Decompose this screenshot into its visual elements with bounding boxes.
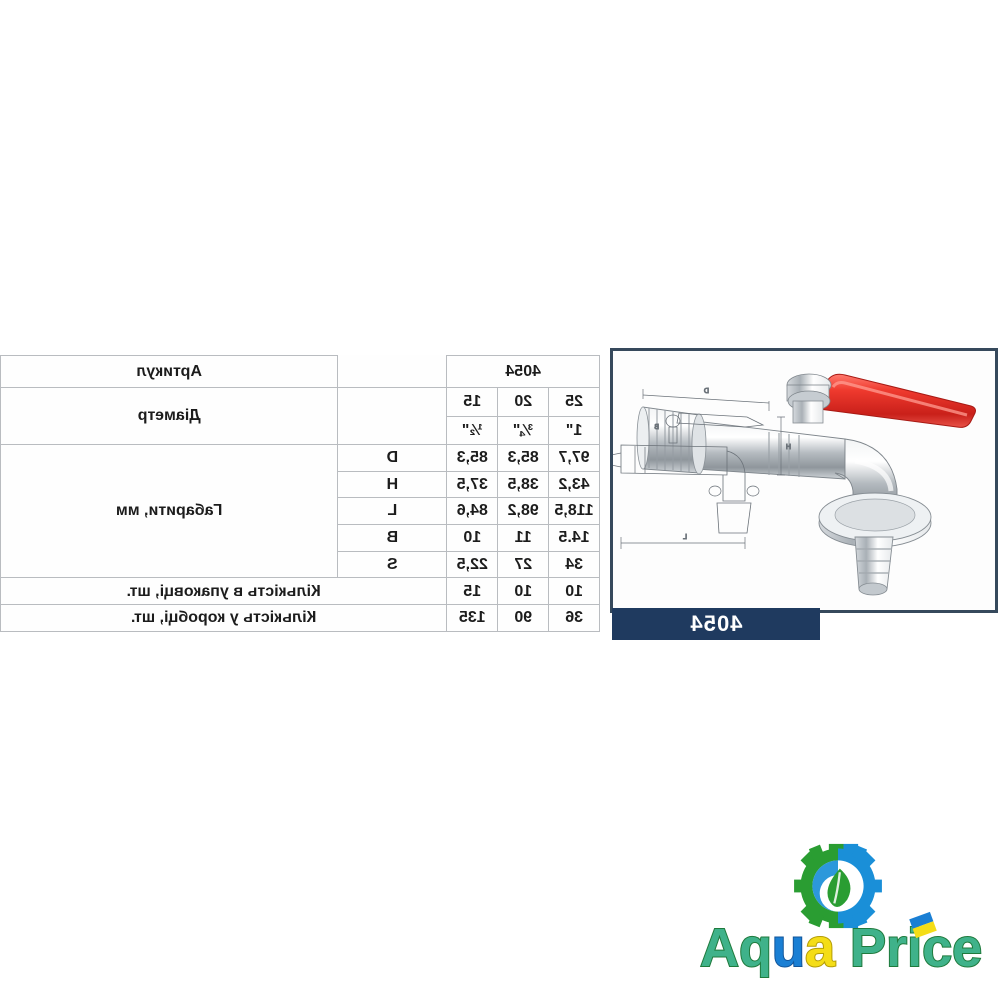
value-box-15: 135 xyxy=(447,605,498,632)
spacer-cell-diameter xyxy=(338,388,447,445)
inch-cell-1: 1" xyxy=(549,416,600,444)
spec-table-container: 4054 Артикул 25 20 15 Діаметр 1" ¾" ½" xyxy=(0,355,600,632)
letter-cell-L: L xyxy=(338,498,447,525)
tech-label-L: L xyxy=(683,534,687,541)
value-B-25: 14.5 xyxy=(549,524,600,551)
logo-text-aqu: Aq xyxy=(700,918,772,978)
value-S-25: 34 xyxy=(549,551,600,578)
value-box-25: 36 xyxy=(549,605,600,632)
spacer-cell-article xyxy=(338,356,447,388)
value-L-25: 118,5 xyxy=(549,498,600,525)
value-H-15: 37,5 xyxy=(447,471,498,498)
value-D-20: 85,3 xyxy=(498,444,549,471)
value-H-25: 43,2 xyxy=(549,471,600,498)
inch-cell-three-quarter: ¾" xyxy=(498,416,549,444)
value-H-20: 38,5 xyxy=(498,471,549,498)
tech-label-B: B xyxy=(654,424,659,431)
pack-qty-label-cell: Кількість в упаковці, шт. xyxy=(1,578,447,605)
logo-text-a: a xyxy=(805,918,835,978)
dimensions-label-cell: Габарити, мм xyxy=(1,444,338,578)
letter-cell-S: S xyxy=(338,551,447,578)
letter-cell-D: D xyxy=(338,444,447,471)
spec-table: 4054 Артикул 25 20 15 Діаметр 1" ¾" ½" xyxy=(0,355,600,632)
table-row-pack-qty: 10 10 15 Кількість в упаковці, шт. xyxy=(1,578,600,605)
value-L-15: 84,6 xyxy=(447,498,498,525)
article-banner: 4054 xyxy=(612,608,820,640)
value-pack-25: 10 xyxy=(549,578,600,605)
ball-valve-illustration: D H B xyxy=(610,351,995,610)
letter-cell-B: B xyxy=(338,524,447,551)
tech-label-D: D xyxy=(704,388,709,395)
logo-text-pr: Pr xyxy=(850,918,907,978)
article-label-cell: Артикул xyxy=(1,356,338,388)
box-qty-label-cell: Кількість у коробці, шт. xyxy=(1,605,447,632)
value-D-25: 97,7 xyxy=(549,444,600,471)
article-value-cell: 4054 xyxy=(447,356,600,388)
dn-cell-20: 20 xyxy=(498,388,549,417)
dn-cell-15: 15 xyxy=(447,388,498,417)
value-B-15: 10 xyxy=(447,524,498,551)
value-pack-15: 15 xyxy=(447,578,498,605)
table-row-dn: 25 20 15 Діаметр xyxy=(1,388,600,417)
value-box-20: 90 xyxy=(498,605,549,632)
value-S-15: 22,5 xyxy=(447,551,498,578)
dn-cell-25: 25 xyxy=(549,388,600,417)
diameter-label-cell: Діаметр xyxy=(1,388,338,445)
table-row-D: 97,7 85,3 85,3 D Габарити, мм xyxy=(1,444,600,471)
logo-wordmark: Aqua Price xyxy=(700,919,990,977)
valve-handle-icon xyxy=(814,374,976,427)
aqua-price-logo: Aqua Price xyxy=(700,843,990,978)
product-photo: D H B xyxy=(613,351,995,610)
tech-label-H: H xyxy=(786,444,791,451)
logo-text-u: u xyxy=(772,918,805,978)
value-L-20: 98,2 xyxy=(498,498,549,525)
value-B-20: 11 xyxy=(498,524,549,551)
gear-droplet-icon xyxy=(792,843,884,929)
letter-cell-H: H xyxy=(338,471,447,498)
product-image-panel: D H B xyxy=(610,348,998,613)
value-pack-20: 10 xyxy=(498,578,549,605)
table-row-article: 4054 Артикул xyxy=(1,356,600,388)
inch-cell-half: ½" xyxy=(447,416,498,444)
value-D-15: 85,3 xyxy=(447,444,498,471)
table-row-box-qty: 36 90 135 Кількість у коробці, шт. xyxy=(1,605,600,632)
value-S-20: 27 xyxy=(498,551,549,578)
